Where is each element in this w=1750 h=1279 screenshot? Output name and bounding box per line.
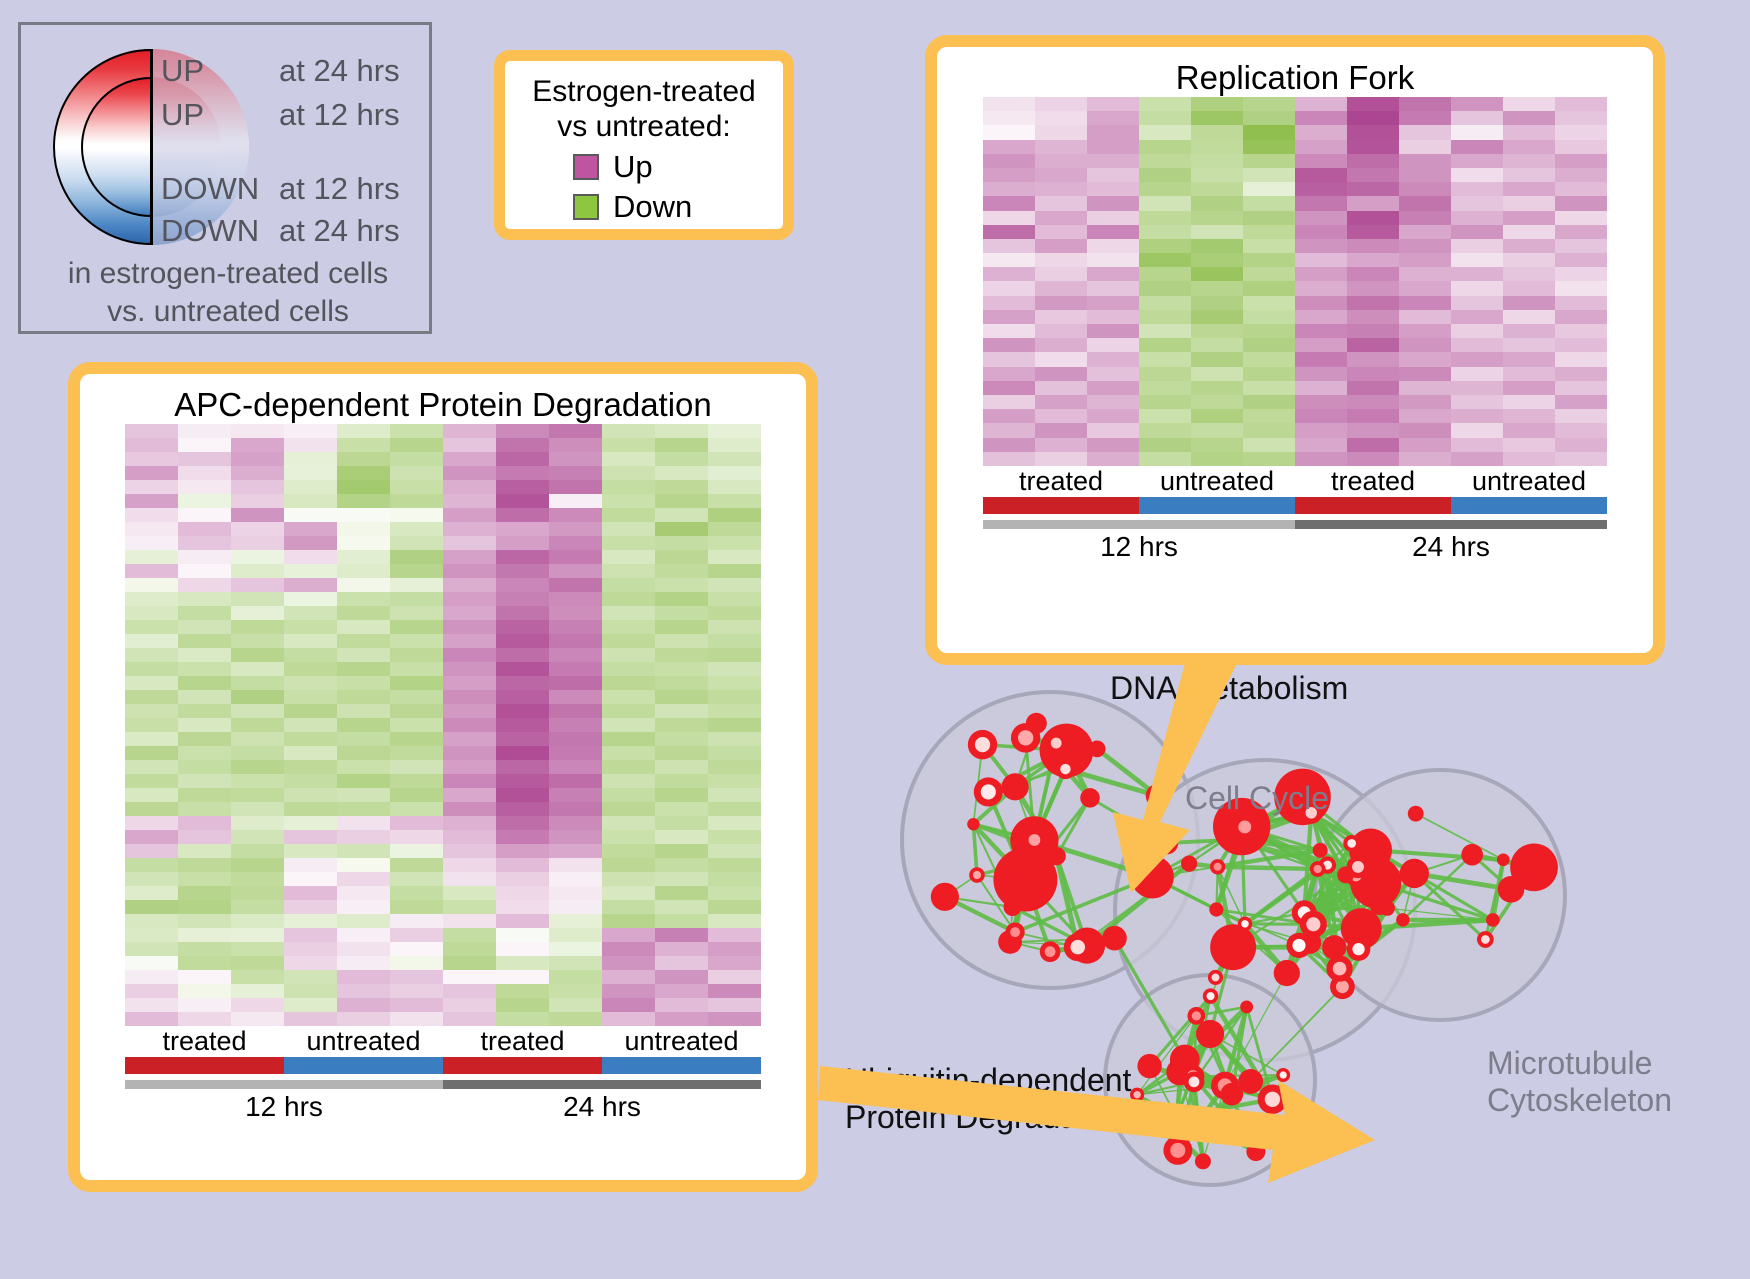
heatmap-cell [549, 774, 602, 788]
network-node [1369, 894, 1390, 915]
network-node-center [1280, 1071, 1287, 1078]
heatmap-cell [1035, 296, 1087, 310]
heatmap-cell [1191, 395, 1243, 409]
heatmap-cell [337, 900, 390, 914]
heatmap-cell [708, 648, 761, 662]
heatmap-cell [1139, 253, 1191, 267]
condition-color-segment [1451, 497, 1607, 514]
heatmap-cell [708, 746, 761, 760]
heatmap-cell [602, 620, 655, 634]
heatmap-cell [1087, 196, 1139, 210]
heatmap-cell [1087, 140, 1139, 154]
heatmap-cell [1399, 225, 1451, 239]
heatmap-cell [284, 662, 337, 676]
heatmap-cell [390, 1012, 443, 1026]
heatmap-cell [284, 746, 337, 760]
heatmap-cell [1399, 111, 1451, 125]
heatmap-cell [1503, 182, 1555, 196]
network-node-center [1051, 738, 1062, 749]
heatmap-cell [1035, 196, 1087, 210]
heatmap-cell [1399, 182, 1451, 196]
network-node-center [1292, 939, 1305, 952]
heatmap-cell [1243, 281, 1295, 295]
heatmap-cell [125, 466, 178, 480]
condition-label: treated [983, 466, 1139, 497]
heatmap-cell [496, 788, 549, 802]
heatmap-cell [443, 480, 496, 494]
heatmap-cell [231, 830, 284, 844]
heatmap-cell [125, 900, 178, 914]
heatmap-cell [178, 844, 231, 858]
heatmap-cell [708, 662, 761, 676]
heatmap-cell [443, 550, 496, 564]
heatmap-cell [1451, 154, 1503, 168]
heatmap-cell [1503, 352, 1555, 366]
heatmap-cell [1139, 409, 1191, 423]
heatmap-cell [549, 718, 602, 732]
heatmap-cell [1087, 381, 1139, 395]
heatmap-cell [708, 872, 761, 886]
heatmap-cell [1295, 281, 1347, 295]
heatmap-cell [602, 802, 655, 816]
heatmap-cell [284, 536, 337, 550]
heatmap-cell [178, 732, 231, 746]
key-footer-line1: in estrogen-treated cells [21, 255, 435, 293]
heatmap-cell [125, 970, 178, 984]
heatmap-cell [284, 886, 337, 900]
heatmap-cell [1191, 281, 1243, 295]
heatmap-cell [1139, 267, 1191, 281]
heatmap-cell [1243, 438, 1295, 452]
heatmap-cell [655, 452, 708, 466]
heatmap-cell [1087, 225, 1139, 239]
heatmap-cell [284, 592, 337, 606]
heatmap-cell [125, 522, 178, 536]
heatmap-cell [443, 816, 496, 830]
heatmap-cell [231, 606, 284, 620]
heatmap-cell [983, 111, 1035, 125]
heatmap-cell [549, 592, 602, 606]
heatmap-cell [655, 746, 708, 760]
key-footer-line2: vs. untreated cells [21, 293, 435, 331]
heatmap-cell [178, 522, 231, 536]
heatmap-cell [708, 802, 761, 816]
heatmap-cell [1451, 97, 1503, 111]
condition-labels-apc: treateduntreatedtreateduntreated [125, 1026, 761, 1057]
heatmap-apc [125, 424, 761, 1026]
heatmap-cell [390, 522, 443, 536]
heatmap-cell [655, 774, 708, 788]
heatmap-cell [496, 998, 549, 1012]
heatmap-cell [1399, 423, 1451, 437]
heatmap-cell [1191, 423, 1243, 437]
heatmap-cell [284, 634, 337, 648]
heatmap-cell [443, 802, 496, 816]
heatmap-cell [708, 452, 761, 466]
heatmap-cell [549, 984, 602, 998]
condition-labels-replication: treateduntreatedtreateduntreated [983, 466, 1607, 497]
heatmap-cell [496, 508, 549, 522]
heatmap-cell [1295, 438, 1347, 452]
heatmap-cell [983, 281, 1035, 295]
heatmap-cell [284, 718, 337, 732]
heatmap-cell [983, 296, 1035, 310]
heatmap-cell [549, 844, 602, 858]
heatmap-cell [178, 494, 231, 508]
heatmap-cell [1295, 409, 1347, 423]
heatmap-cell [1087, 154, 1139, 168]
heatmap-cell [983, 154, 1035, 168]
panel-title-replication-fork: Replication Fork [937, 59, 1653, 97]
network-node-center [1060, 764, 1070, 774]
heatmap-cell [1295, 324, 1347, 338]
heatmap-cell [708, 508, 761, 522]
heatmap-cell [231, 536, 284, 550]
heatmap-cell [1191, 253, 1243, 267]
heatmap-cell [708, 480, 761, 494]
heatmap-cell [549, 900, 602, 914]
network-node-center [1314, 865, 1322, 873]
heatmap-cell [1451, 296, 1503, 310]
condition-label: untreated [602, 1026, 761, 1057]
heatmap-cell [655, 928, 708, 942]
heatmap-cell [1399, 154, 1451, 168]
heatmap-cell [1243, 296, 1295, 310]
heatmap-cell [443, 760, 496, 774]
heatmap-cell [496, 984, 549, 998]
network-node-center [1151, 790, 1163, 802]
heatmap-cell [231, 774, 284, 788]
heatmap-cell [496, 592, 549, 606]
heatmap-cell [655, 914, 708, 928]
heatmap-cell [1035, 395, 1087, 409]
heatmap-cell [390, 550, 443, 564]
heatmap-cell [983, 352, 1035, 366]
heatmap-cell [655, 802, 708, 816]
heatmap-cell [178, 424, 231, 438]
heatmap-cell [1139, 367, 1191, 381]
heatmap-cell [231, 788, 284, 802]
heatmap-cell [1555, 168, 1607, 182]
heatmap-cell [1347, 352, 1399, 366]
heatmap-cell [1555, 409, 1607, 423]
heatmap-cell [1087, 253, 1139, 267]
legend-row-down: Down [573, 189, 773, 225]
heatmap-cell [443, 858, 496, 872]
heatmap-cell [1451, 352, 1503, 366]
heatmap-cell [602, 550, 655, 564]
heatmap-cell [655, 886, 708, 900]
heatmap-cell [549, 578, 602, 592]
heatmap-cell [231, 900, 284, 914]
heatmap-cell [125, 508, 178, 522]
heatmap-cell [549, 928, 602, 942]
heatmap-cell [231, 564, 284, 578]
heatmap-cell [1295, 111, 1347, 125]
heatmap-cell [125, 774, 178, 788]
key-down-24-time: at 24 hrs [279, 213, 400, 249]
up-down-legend-box: Estrogen-treated vs untreated: Up Down [494, 50, 794, 240]
heatmap-cell [125, 662, 178, 676]
heatmap-cell [1503, 367, 1555, 381]
heatmap-cell [125, 788, 178, 802]
heatmap-cell [655, 970, 708, 984]
heatmap-cell [125, 564, 178, 578]
heatmap-cell [125, 732, 178, 746]
heatmap-cell [1243, 97, 1295, 111]
heatmap-cell [337, 452, 390, 466]
heatmap-cell [602, 480, 655, 494]
heatmap-cell [496, 760, 549, 774]
heatmap-cell [1295, 140, 1347, 154]
network-node-center [1352, 943, 1364, 955]
heatmap-cell [602, 536, 655, 550]
heatmap-cell [1139, 196, 1191, 210]
heatmap-cell [549, 886, 602, 900]
heatmap-cell [549, 606, 602, 620]
heatmap-cell [549, 788, 602, 802]
heatmap-cell [708, 620, 761, 634]
heatmap-cell [443, 522, 496, 536]
heatmap-cell [1503, 253, 1555, 267]
heatmap-cell [1191, 381, 1243, 395]
heatmap-cell [602, 774, 655, 788]
heatmap-cell [496, 690, 549, 704]
heatmap-cell [708, 606, 761, 620]
heatmap-cell [1295, 338, 1347, 352]
heatmap-cell [178, 942, 231, 956]
heatmap-cell [337, 984, 390, 998]
heatmap-cell [1295, 168, 1347, 182]
network-node [1196, 1020, 1224, 1048]
heatmap-cell [1035, 409, 1087, 423]
heatmap-cell [337, 732, 390, 746]
heatmap-cell [1555, 423, 1607, 437]
heatmap-cell [1139, 338, 1191, 352]
heatmap-cell [549, 956, 602, 970]
condition-color-segment [125, 1057, 284, 1074]
heatmap-cell [178, 802, 231, 816]
heatmap-cell [983, 182, 1035, 196]
heatmap-cell [496, 676, 549, 690]
network-node-center [1161, 837, 1173, 849]
heatmap-cell [337, 620, 390, 634]
network-node [1400, 859, 1429, 888]
heatmap-cell [231, 732, 284, 746]
heatmap-cell [708, 956, 761, 970]
heatmap-cell [708, 424, 761, 438]
heatmap-cell [496, 480, 549, 494]
heatmap-cell [1243, 367, 1295, 381]
heatmap-cell [231, 480, 284, 494]
heatmap-cell [602, 452, 655, 466]
heatmap-cell [178, 480, 231, 494]
heatmap-cell [496, 634, 549, 648]
heatmap-cell [1347, 168, 1399, 182]
heatmap-cell [231, 858, 284, 872]
heatmap-cell [496, 928, 549, 942]
heatmap-cell [125, 620, 178, 634]
heatmap-cell [284, 424, 337, 438]
heatmap-cell [1191, 367, 1243, 381]
heatmap-cell [443, 508, 496, 522]
heatmap-cell [1399, 296, 1451, 310]
heatmap-cell [1451, 196, 1503, 210]
heatmap-cell [496, 494, 549, 508]
heatmap-cell [443, 1012, 496, 1026]
condition-label: treated [125, 1026, 284, 1057]
heatmap-cell [1347, 182, 1399, 196]
heatmap-cell [496, 438, 549, 452]
network-node-center [1347, 839, 1356, 848]
heatmap-cell [983, 452, 1035, 466]
heatmap-cell [983, 367, 1035, 381]
network-node [1408, 806, 1424, 822]
condition-label: treated [1295, 466, 1451, 497]
heatmap-cell [337, 886, 390, 900]
heatmap-cell [1503, 338, 1555, 352]
heatmap-cell [337, 942, 390, 956]
heatmap-cell [125, 704, 178, 718]
heatmap-cell [1555, 140, 1607, 154]
heatmap-cell [284, 564, 337, 578]
heatmap-cell [1295, 253, 1347, 267]
heatmap-cell [602, 844, 655, 858]
heatmap-cell [178, 956, 231, 970]
heatmap-cell [1399, 352, 1451, 366]
heatmap-cell [337, 774, 390, 788]
heatmap-cell [602, 424, 655, 438]
network-node-center [1133, 1091, 1140, 1098]
heatmap-cell [284, 578, 337, 592]
heatmap-cell [1243, 125, 1295, 139]
heatmap-cell [125, 578, 178, 592]
heatmap-cell [1555, 211, 1607, 225]
network-node [1195, 1153, 1211, 1169]
heatmap-cell [178, 886, 231, 900]
heatmap-cell [231, 508, 284, 522]
heatmap-cell [655, 606, 708, 620]
heatmap-cell [443, 634, 496, 648]
heatmap-cell [1191, 182, 1243, 196]
heatmap-cell [337, 746, 390, 760]
network-node [1003, 898, 1021, 916]
legend-title: Estrogen-treated vs untreated: [515, 75, 773, 145]
heatmap-cell [1503, 168, 1555, 182]
heatmap-cell [1087, 211, 1139, 225]
heatmap-cell [284, 522, 337, 536]
heatmap-cell [1243, 168, 1295, 182]
heatmap-cell [1451, 168, 1503, 182]
heatmap-cell [1503, 196, 1555, 210]
heatmap-cell [1451, 409, 1503, 423]
heatmap-cell [178, 718, 231, 732]
time-group-label: 12 hrs [983, 531, 1295, 563]
network-node-center [1171, 1111, 1181, 1121]
heatmap-cell [125, 984, 178, 998]
heatmap-cell [496, 942, 549, 956]
heatmap-cell [1555, 296, 1607, 310]
heatmap-cell [337, 536, 390, 550]
heatmap-cell [390, 914, 443, 928]
heatmap-cell [1347, 452, 1399, 466]
heatmap-cell [231, 718, 284, 732]
heatmap-cell [983, 253, 1035, 267]
heatmap-cell [337, 1012, 390, 1026]
heatmap-cell [1139, 97, 1191, 111]
heatmap-cell [231, 550, 284, 564]
network-node [1221, 1083, 1244, 1106]
heatmap-cell [178, 858, 231, 872]
heatmap-cell [549, 536, 602, 550]
time-group-label: 12 hrs [125, 1091, 443, 1123]
heatmap-cell [1399, 140, 1451, 154]
heatmap-cell [1399, 281, 1451, 295]
network-node [1089, 740, 1106, 757]
heatmap-cell [1451, 395, 1503, 409]
heatmap-cell [496, 550, 549, 564]
heatmap-cell [231, 886, 284, 900]
network-node [1274, 960, 1300, 986]
heatmap-cell [983, 324, 1035, 338]
time-group-label: 24 hrs [1295, 531, 1607, 563]
heatmap-cell [602, 900, 655, 914]
heatmap-cell [231, 970, 284, 984]
heatmap-cell [655, 424, 708, 438]
heatmap-cell [496, 872, 549, 886]
heatmap-cell [337, 928, 390, 942]
heatmap-cell [1243, 182, 1295, 196]
heatmap-cell [1139, 310, 1191, 324]
heatmap-cell [1347, 281, 1399, 295]
condition-color-segment [1295, 497, 1451, 514]
heatmap-cell [1087, 395, 1139, 409]
heatmap-cell [708, 578, 761, 592]
heatmap-cell [390, 662, 443, 676]
heatmap-cell [284, 690, 337, 704]
heatmap-cell [337, 466, 390, 480]
heatmap-cell [655, 900, 708, 914]
heatmap-cell [496, 914, 549, 928]
heatmap-cell [390, 718, 443, 732]
heatmap-cell [983, 381, 1035, 395]
heatmap-cell [1087, 281, 1139, 295]
heatmap-cell [1399, 338, 1451, 352]
heatmap-cell [1139, 381, 1191, 395]
heatmap-cell [708, 522, 761, 536]
heatmap-cell [390, 424, 443, 438]
heatmap-cell [1087, 239, 1139, 253]
heatmap-cell [655, 816, 708, 830]
heatmap-cell [708, 774, 761, 788]
heatmap-cell [496, 802, 549, 816]
heatmap-cell [390, 746, 443, 760]
heatmap-cell [1139, 154, 1191, 168]
heatmap-cell [1347, 296, 1399, 310]
heatmap-cell [496, 900, 549, 914]
up-color-swatch [573, 154, 599, 180]
network-label-cell-cycle: Cell Cycle [1185, 780, 1329, 817]
heatmap-cell [1399, 168, 1451, 182]
heatmap-cell [443, 872, 496, 886]
network-node [1498, 876, 1525, 903]
heatmap-cell [125, 676, 178, 690]
heatmap-cell [1243, 423, 1295, 437]
heatmap-cell [178, 606, 231, 620]
heatmap-cell [708, 592, 761, 606]
heatmap-cell [1503, 381, 1555, 395]
heatmap-cell [496, 732, 549, 746]
